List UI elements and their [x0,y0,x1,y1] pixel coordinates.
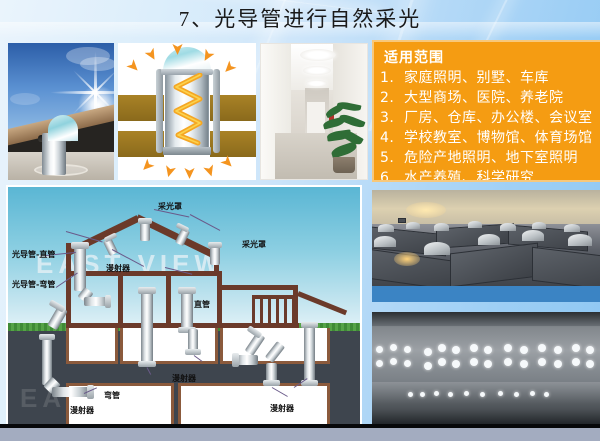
ceiling-light [586,360,594,368]
bottom-bar [0,428,600,441]
ceiling-light [514,392,519,397]
blue-divider-bar [372,286,600,302]
horizontal-tube [236,355,258,365]
item-number: 1. [380,68,404,88]
ceiling-light [452,360,460,368]
ceiling-light [484,346,492,354]
straight-light-tube [181,292,193,330]
ceiling-light [554,360,562,368]
straight-light-tube [188,329,198,351]
list-item: 6.水产养殖、科学研究 [380,168,600,182]
incoming-light-arrow: ➤ [218,57,239,78]
tube-bracket [213,69,220,153]
ceiling-light [572,358,580,366]
collector-dome [138,218,152,224]
light-collector [140,223,150,241]
diagram-label-diffuser-4: 漫射器 [270,403,294,414]
diffuser [105,295,111,308]
wall-post [217,271,222,327]
tube-cap [71,242,89,249]
ceiling-light [404,346,411,353]
outgoing-light-arrow: ➤ [181,166,197,179]
light-dome [48,115,78,141]
ground-room-mid [120,328,218,364]
photo-corridor [260,43,368,180]
light-dome [374,236,396,247]
ceiling-light [424,362,432,370]
ceiling-diffuser [300,49,336,61]
roof-panel [532,247,600,290]
outgoing-light-arrow: ➤ [199,162,218,180]
ceiling-light [484,360,492,368]
tube-cap [138,287,156,294]
straight-light-tube [304,327,315,383]
ground-room-left [66,328,118,364]
stair-post [284,299,287,323]
slide-title: 7、光导管进行自然采光 [0,3,600,33]
ceiling-light [404,360,411,367]
sunburst-icon [52,73,56,77]
setting-sun [406,202,446,218]
light-dome [500,223,516,231]
ceiling-light [504,358,512,366]
incoming-light-arrow: ➤ [122,57,143,78]
scope-list: 1.家庭照明、别墅、车库 2.大型商场、医院、养老院 3.厂房、仓库、办公楼、会… [374,68,600,182]
ceiling-light [520,346,528,354]
diagram-label-collector-2: 采光罩 [242,239,266,250]
incoming-light-arrow: ➤ [140,45,161,65]
scope-heading: 适用范围 [374,42,600,68]
item-text: 厂房、仓库、办公楼、会议室 [404,110,593,126]
wall-post [118,271,123,327]
reflected-light-arrows [170,73,206,147]
stair-handrail [297,291,347,315]
light-dome [378,224,394,232]
ceiling-light [538,358,546,366]
item-number: 2. [380,88,404,108]
ceiling-light [544,392,549,397]
item-number: 6. [380,168,404,182]
list-item: 4.学校教室、博物馆、体育场馆 [380,128,600,148]
photo-ceiling-diffuser-array [372,312,600,425]
outgoing-light-arrow: ➤ [159,162,178,179]
item-text: 大型商场、医院、养老院 [404,90,564,106]
stair-post [252,299,255,323]
list-item: 2.大型商场、医院、养老院 [380,88,600,108]
straight-light-tube [141,292,153,364]
diagram-label-elbow: 弯管 [104,390,120,401]
roof-panel [450,243,538,288]
leader-line [190,214,220,231]
ceiling-light [376,360,383,367]
stair-post [260,299,263,323]
cloud [10,93,40,105]
tube-cap [301,322,318,328]
outgoing-light-arrow: ➤ [136,155,157,176]
ceiling-light [448,392,453,397]
scope-panel: 适用范围 1.家庭照明、别墅、车库 2.大型商场、医院、养老院 3.厂房、仓库、… [372,40,600,182]
stair-post [276,299,279,323]
ceiling-light [390,358,397,365]
diagram-label-diffuser-2: 漫射器 [172,373,196,384]
ceiling-light [438,344,446,352]
light-dome [532,222,546,229]
list-item: 3.厂房、仓库、办公楼、会议室 [380,108,600,128]
light-dome [522,230,544,241]
light-dome [568,234,592,246]
ceiling-light [470,344,478,352]
sun-reflection [394,252,420,266]
ceiling-light [572,344,580,352]
ceiling-light [530,391,535,396]
list-item: 5.危险产地照明、地下室照明 [380,148,600,168]
light-dome [468,221,482,228]
incoming-light-arrow: ➤ [169,43,185,56]
ceiling-light [424,348,432,356]
stair-post [292,299,295,323]
ceiling-light [480,392,485,397]
floor-beam [217,285,297,290]
tube-cap [178,287,196,294]
light-collector [210,247,220,265]
item-number: 5. [380,148,404,168]
item-number: 3. [380,108,404,128]
light-dome [434,223,449,231]
light-dome [478,234,500,245]
tube-cap [39,334,55,340]
wall-post [166,271,171,327]
ceiling-light [452,346,460,354]
straight-light-tube [74,247,86,291]
ceiling-light [504,344,512,352]
ceiling-light [498,391,503,396]
ceiling-light [538,344,546,352]
diagram-label-elbow-tube: 光导管-弯管 [12,279,55,290]
floor-beam [66,271,220,276]
ceiling-light [420,392,425,397]
distant-structure [398,218,406,223]
item-number: 4. [380,128,404,148]
ceiling-diffuser [303,66,331,75]
diagram-label-straight: 直管 [194,299,210,310]
leaf [338,112,365,129]
ceiling-light [554,346,562,354]
ceiling-light [438,358,446,366]
ceiling-light [520,360,528,368]
diffuser-plate [163,147,211,155]
ceiling-light [434,391,439,396]
diagram-label-diffuser-1: 漫射器 [106,263,130,274]
cloud [80,57,114,71]
item-text: 水产养殖、科学研究 [404,170,535,182]
ceiling-light [470,358,478,366]
photo-light-tube-diagram: ➤ ➤ ➤ ➤ ➤ ➤ ➤ ➤ ➤ ➤ [118,43,256,180]
diagram-label-straight-tube: 光导管-直管 [12,249,55,260]
diffuser [263,380,280,386]
potted-plant [323,101,365,173]
diagram-label-collector-1: 采光罩 [158,201,182,212]
ceiling-light [408,392,413,397]
light-dome [424,242,450,255]
diffuser [185,349,201,355]
light-dome [406,222,420,229]
building-cross-section-diagram: EAST VIEW EAST VIEW EAST VIEW [6,185,362,435]
ceiling-light [390,344,397,351]
diffuser [232,353,239,367]
stair-post [268,299,271,323]
collector-dome [208,242,222,248]
item-text: 家庭照明、别墅、车库 [404,70,549,86]
photo-roof-dome [8,43,114,180]
ceiling-light [586,346,594,354]
item-text: 学校教室、博物馆、体育场馆 [404,130,593,146]
ceiling-light [376,346,383,353]
diagram-label-diffuser-3: 漫射器 [70,405,94,416]
list-item: 1.家庭照明、别墅、车库 [380,68,600,88]
ceiling-band [372,382,600,404]
light-dome [564,224,580,232]
plant-pot [333,157,355,173]
tube-bracket [156,69,163,153]
photo-rooftop-dome-array [372,190,600,290]
ceiling-light [464,391,469,396]
ceiling-diffuser [306,80,327,87]
item-text: 危险产地照明、地下室照明 [404,150,578,166]
